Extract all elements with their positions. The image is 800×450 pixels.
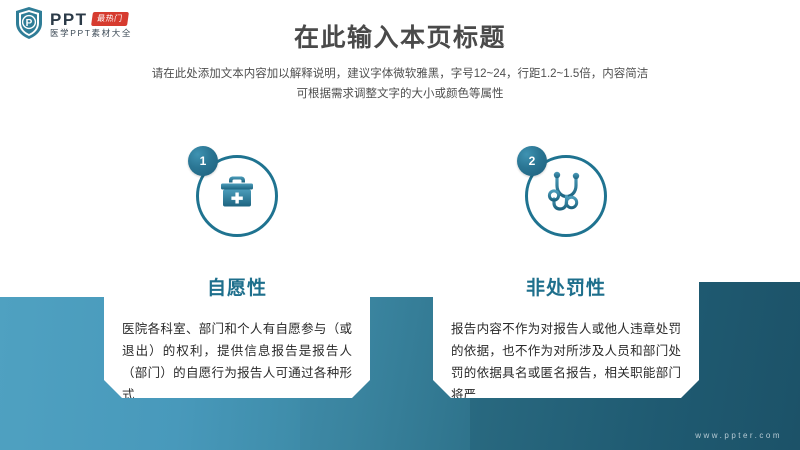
card-2-icon-area: 2 <box>433 133 699 253</box>
card-1-icon-area: 1 <box>104 133 370 253</box>
card-1-number-badge: 1 <box>188 146 218 176</box>
card-2-title: 非处罚性 <box>433 273 699 300</box>
subtitle-line-1: 请在此处添加文本内容加以解释说明，建议字体微软雅黑，字号12~24，行距1.2~… <box>0 64 800 84</box>
page-title: 在此输入本页标题 <box>0 18 800 54</box>
footer-website: www.ppter.com <box>695 431 782 440</box>
stethoscope-icon <box>545 172 587 221</box>
slide-canvas: P PPT 最热门 医学PPT素材大全 在此输入本页标题 请在此处添加文本内容加… <box>0 0 800 450</box>
medical-bag-icon <box>214 174 260 219</box>
card-2-number-badge: 2 <box>517 146 547 176</box>
page-subtitle: 请在此处添加文本内容加以解释说明，建议字体微软雅黑，字号12~24，行距1.2~… <box>0 64 800 104</box>
subtitle-line-2: 可根据需求调整文字的大小或颜色等属性 <box>0 84 800 104</box>
card-2-body: 报告内容不作为对报告人或他人违章处罚的依据，也不作为对所涉及人员和部门处罚的依据… <box>451 318 681 406</box>
content-card-2[interactable]: 2 非处罚性 报告内容不作为对报告人或他人违章处罚的依据，也不作为对所涉及人员和… <box>433 133 699 398</box>
card-1-title: 自愿性 <box>104 273 370 300</box>
content-card-1[interactable]: 1 自愿性 医院各科室、部门和个人有自愿参与（或退出）的权利，提供信息报告是报告… <box>104 133 370 398</box>
card-1-body: 医院各科室、部门和个人有自愿参与（或退出）的权利，提供信息报告是报告人（部门）的… <box>122 318 352 406</box>
